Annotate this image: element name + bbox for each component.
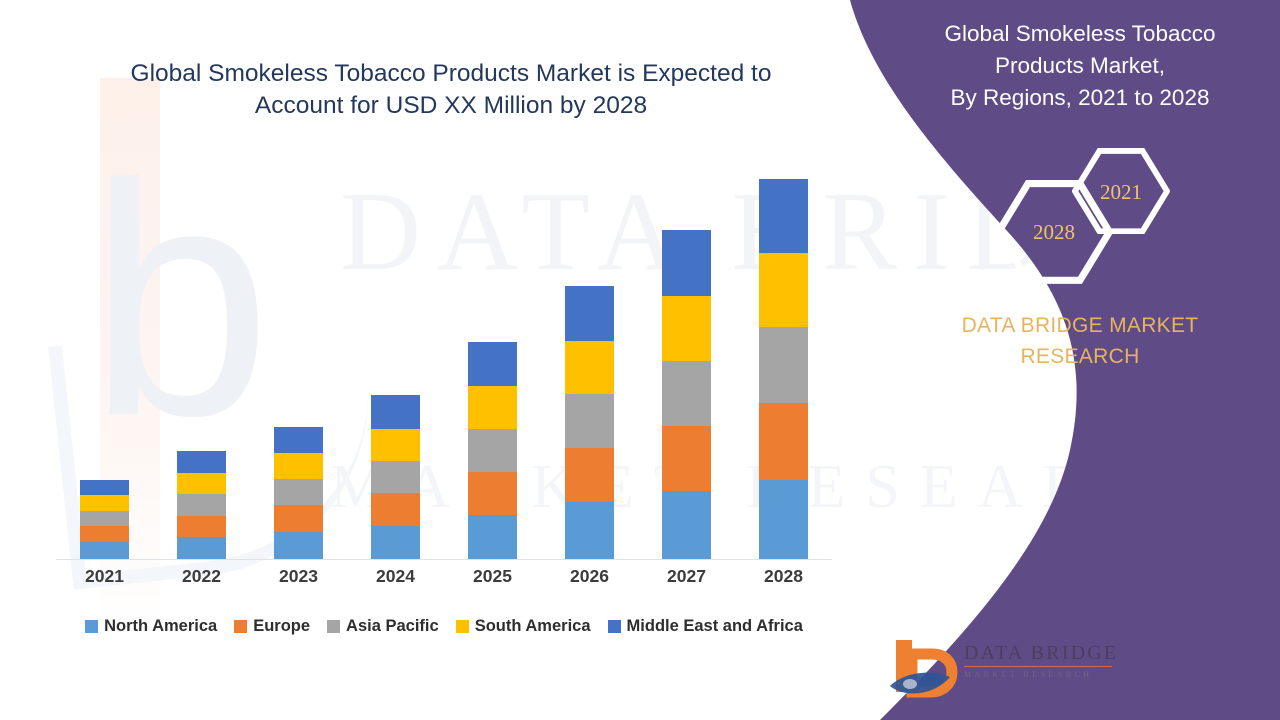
bar-group — [735, 179, 832, 558]
bar-segment — [177, 451, 226, 472]
x-axis-tick-label: 2028 — [735, 566, 832, 587]
bar-group — [444, 342, 541, 558]
x-axis-tick-label: 2021 — [56, 566, 153, 587]
side-panel-title-line-1: Global Smokeless Tobacco — [880, 18, 1280, 50]
legend-item-label: South America — [475, 617, 591, 636]
company-logo-text: DATA BRIDGE MARKET RESEARCH — [964, 642, 1118, 679]
chart-baseline-axis — [56, 559, 832, 561]
x-axis-tick-label: 2025 — [444, 566, 541, 587]
x-axis-tick-label: 2024 — [347, 566, 444, 587]
brand-name-line-2: RESEARCH — [880, 341, 1280, 372]
hexagon-badge-end-year-label: 2028 — [1033, 220, 1075, 245]
bar-segment — [662, 491, 711, 558]
bar-segment — [177, 516, 226, 537]
bar-group — [541, 286, 638, 558]
bar-segment — [371, 526, 420, 559]
bar-segment — [468, 342, 517, 386]
bar-group — [153, 451, 250, 558]
legend-swatch-icon — [456, 620, 469, 633]
legend-item-label: Middle East and Africa — [627, 617, 803, 636]
legend-item[interactable]: South America — [456, 617, 591, 636]
page-title-line-2: Account for USD XX Million by 2028 — [88, 90, 814, 122]
bar-segment — [662, 426, 711, 491]
bar-group — [56, 480, 153, 559]
company-logo-divider — [964, 666, 1112, 667]
bar-segment — [274, 427, 323, 454]
x-axis-tick-label: 2023 — [250, 566, 347, 587]
legend-item[interactable]: Middle East and Africa — [608, 617, 803, 636]
page-title: Global Smokeless Tobacco Products Market… — [88, 58, 814, 122]
chart-legend: North AmericaEuropeAsia PacificSouth Ame… — [56, 617, 832, 636]
bar-segment — [759, 253, 808, 327]
legend-item-label: Europe — [253, 617, 310, 636]
x-axis-tick-label: 2022 — [153, 566, 250, 587]
bar-segment — [177, 494, 226, 515]
chart-x-axis-labels: 20212022202320242025202620272028 — [56, 566, 832, 587]
page-title-line-1: Global Smokeless Tobacco Products Market… — [88, 58, 814, 90]
chart-plot-area — [56, 151, 832, 559]
stacked-bar — [468, 342, 517, 558]
bar-segment — [662, 230, 711, 296]
bar-segment — [274, 532, 323, 559]
bar-group — [638, 230, 735, 558]
bar-segment — [759, 480, 808, 559]
bar-segment — [468, 386, 517, 429]
legend-swatch-icon — [85, 620, 98, 633]
bar-segment — [274, 505, 323, 532]
legend-item[interactable]: Europe — [234, 617, 310, 636]
bar-group — [347, 395, 444, 558]
stacked-bar — [274, 427, 323, 559]
bar-segment — [759, 403, 808, 480]
bar-segment — [565, 448, 614, 502]
x-axis-tick-label: 2027 — [638, 566, 735, 587]
bar-segment — [565, 341, 614, 394]
bar-segment — [80, 542, 129, 558]
bar-segment — [80, 526, 129, 542]
legend-item[interactable]: North America — [85, 617, 217, 636]
bar-segment — [565, 502, 614, 558]
legend-swatch-icon — [234, 620, 247, 633]
bar-segment — [759, 327, 808, 404]
bar-segment — [662, 296, 711, 360]
side-panel-title-line-3: By Regions, 2021 to 2028 — [880, 82, 1280, 114]
bar-segment — [80, 480, 129, 495]
bar-segment — [80, 495, 129, 510]
stacked-bar-chart — [56, 150, 832, 560]
legend-item-label: Asia Pacific — [346, 617, 439, 636]
bar-segment — [274, 453, 323, 479]
hexagon-badge-start-year: 2021 — [1072, 148, 1170, 236]
stacked-bar — [80, 480, 129, 559]
legend-item-label: North America — [104, 617, 217, 636]
legend-swatch-icon — [327, 620, 340, 633]
bar-segment — [371, 493, 420, 526]
company-logo-name: DATA BRIDGE — [964, 642, 1118, 664]
data-bridge-logo-icon — [888, 636, 960, 700]
company-logo-subtitle: MARKET RESEARCH — [964, 670, 1118, 679]
side-panel: Global Smokeless Tobacco Products Market… — [820, 0, 1280, 720]
brand-name-line-1: DATA BRIDGE MARKET — [880, 310, 1280, 341]
stacked-bar — [662, 230, 711, 558]
x-axis-tick-label: 2026 — [541, 566, 638, 587]
year-badges: 2028 2021 — [820, 148, 1280, 278]
side-panel-title: Global Smokeless Tobacco Products Market… — [820, 18, 1280, 114]
bar-segment — [468, 429, 517, 472]
bar-segment — [468, 472, 517, 515]
bar-segment — [371, 429, 420, 461]
legend-item[interactable]: Asia Pacific — [327, 617, 439, 636]
bar-segment — [274, 479, 323, 506]
bar-segment — [759, 179, 808, 252]
bar-segment — [177, 537, 226, 558]
stacked-bar — [177, 451, 226, 558]
bar-segment — [468, 515, 517, 559]
company-logo: DATA BRIDGE MARKET RESEARCH — [888, 636, 1118, 702]
legend-swatch-icon — [608, 620, 621, 633]
brand-name: DATA BRIDGE MARKET RESEARCH — [820, 310, 1280, 372]
bar-segment — [371, 461, 420, 494]
bar-segment — [565, 286, 614, 341]
bar-group — [250, 427, 347, 559]
hexagon-badge-start-year-label: 2021 — [1100, 180, 1142, 205]
bar-segment — [80, 511, 129, 526]
stacked-bar — [565, 286, 614, 558]
side-panel-title-line-2: Products Market, — [880, 50, 1280, 82]
infographic-canvas: b DATA BRIDGE MARKET RESEARCH Global Smo… — [0, 0, 1280, 720]
stacked-bar — [759, 179, 808, 558]
bar-segment — [662, 361, 711, 426]
stacked-bar — [371, 395, 420, 558]
bar-segment — [371, 395, 420, 429]
bar-segment — [177, 473, 226, 494]
bar-segment — [565, 394, 614, 448]
